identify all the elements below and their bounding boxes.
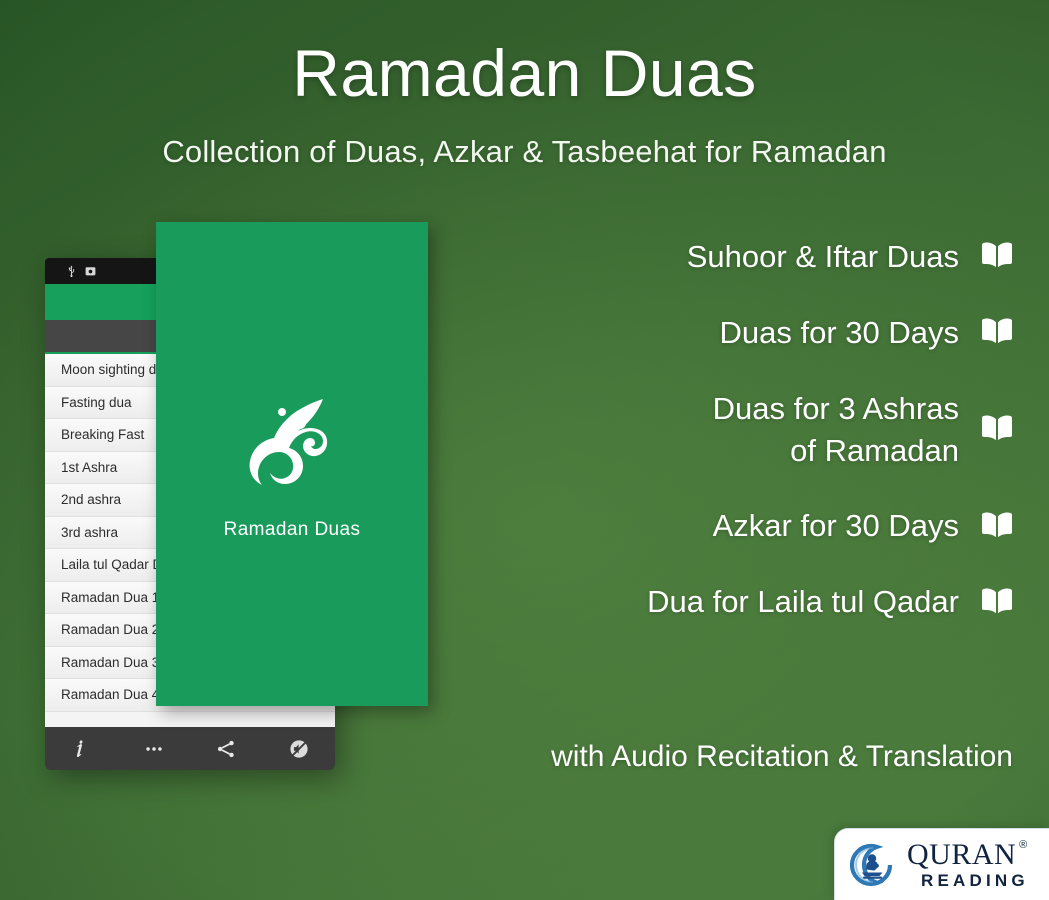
brand-tagline: READING	[921, 872, 1029, 889]
brand-wordmark: QURAN ® READING	[907, 840, 1029, 889]
more-icon	[143, 738, 165, 760]
usb-icon	[65, 264, 78, 278]
features-list: Suhoor & Iftar DuasDuas for 30 DaysDuas …	[573, 236, 1013, 657]
features-footnote: with Audio Recitation & Translation	[353, 740, 1013, 774]
feature-row: Azkar for 30 Days	[573, 505, 1013, 547]
crescent-moon-reader-icon	[849, 840, 899, 890]
open-book-icon	[981, 587, 1013, 613]
more-button[interactable]	[118, 727, 191, 770]
splash-app-name: Ramadan Duas	[224, 519, 361, 541]
screenshot-icon	[84, 264, 97, 278]
page-subtitle: Collection of Duas, Azkar & Tasbeehat fo…	[0, 134, 1049, 170]
open-book-icon	[981, 511, 1013, 542]
open-book-icon	[981, 511, 1013, 537]
feature-label: Duas for 3 Ashrasof Ramadan	[713, 388, 959, 472]
brand-name: QURAN	[907, 840, 1016, 870]
info-icon	[70, 738, 92, 760]
open-book-icon	[981, 317, 1013, 348]
share-button[interactable]	[190, 727, 263, 770]
feature-row: Duas for 3 Ashrasof Ramadan	[573, 388, 1013, 472]
open-book-icon	[981, 414, 1013, 445]
open-book-icon	[981, 241, 1013, 267]
app-splash-screen: Ramadan Duas	[156, 222, 428, 706]
open-book-icon	[981, 317, 1013, 343]
page-title: Ramadan Duas	[0, 40, 1049, 106]
info-button[interactable]	[45, 727, 118, 770]
open-book-icon	[981, 587, 1013, 618]
brand-badge[interactable]: QURAN ® READING	[834, 828, 1049, 900]
open-book-icon	[981, 241, 1013, 272]
header: Ramadan Duas Collection of Duas, Azkar &…	[0, 0, 1049, 170]
registered-mark: ®	[1019, 840, 1027, 851]
feature-label: Suhoor & Iftar Duas	[687, 236, 959, 278]
feature-row: Dua for Laila tul Qadar	[573, 581, 1013, 623]
share-icon	[215, 738, 237, 760]
feature-label: Azkar for 30 Days	[713, 505, 959, 547]
mute-button[interactable]	[263, 727, 336, 770]
open-book-icon	[981, 414, 1013, 440]
feature-row: Duas for 30 Days	[573, 312, 1013, 354]
arabic-calligraphy-logo-icon	[227, 387, 357, 507]
feature-label: Dua for Laila tul Qadar	[647, 581, 959, 623]
mute-icon	[288, 738, 310, 760]
phone-bottom-toolbar[interactable]	[45, 727, 335, 770]
feature-row: Suhoor & Iftar Duas	[573, 236, 1013, 278]
feature-label: Duas for 30 Days	[720, 312, 960, 354]
